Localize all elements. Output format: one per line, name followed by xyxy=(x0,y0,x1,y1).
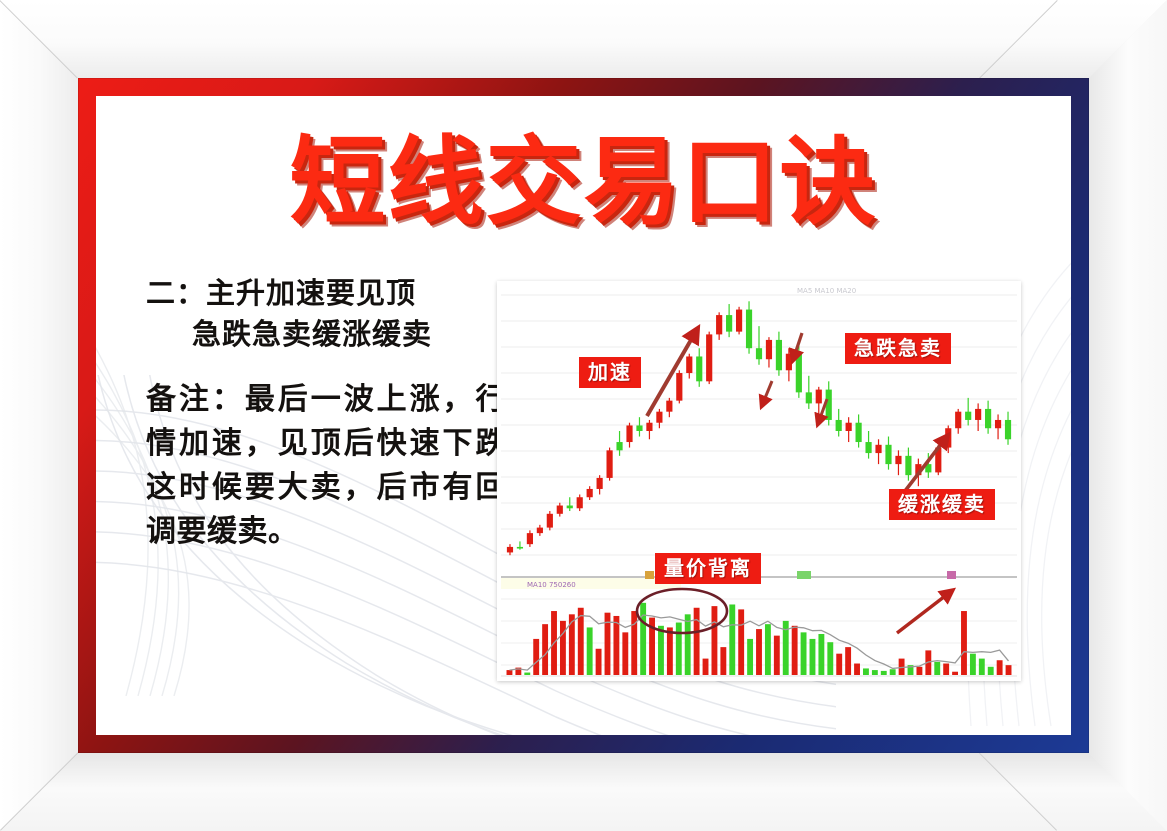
candle-body xyxy=(865,442,871,453)
candle-body xyxy=(577,497,583,508)
chart-label-rapid-sell: 急跌急卖 xyxy=(845,333,951,364)
volume-bar xyxy=(658,626,664,675)
candle-body xyxy=(895,456,901,464)
candle-body xyxy=(816,390,822,404)
candle-body xyxy=(985,409,991,428)
candle-body xyxy=(995,420,1001,428)
volume-bar xyxy=(729,604,735,675)
candle-body xyxy=(597,478,603,489)
volume-bar xyxy=(818,634,824,675)
candle-body xyxy=(756,348,762,359)
candle-body xyxy=(846,423,852,431)
chart-header-text: MA5 MA10 MA20 xyxy=(797,287,856,295)
volume-bar xyxy=(694,608,700,675)
candle-body xyxy=(607,450,613,478)
volume-bar xyxy=(970,654,976,675)
volume-bar xyxy=(854,664,860,675)
candle-body xyxy=(945,428,951,447)
volume-bar xyxy=(587,627,593,675)
volume-bar xyxy=(711,606,717,675)
volume-bar xyxy=(863,668,869,675)
volume-bar xyxy=(676,623,682,675)
frame-bevel-left xyxy=(0,0,78,831)
volume-bar xyxy=(943,664,949,675)
volume-bar xyxy=(845,647,851,675)
frame-bevel-right xyxy=(1089,0,1167,831)
verse-line-2: 急跌急卖缓涨缓卖 xyxy=(146,315,506,356)
candle-body xyxy=(716,315,722,334)
volume-bar xyxy=(756,629,762,675)
volume-bar xyxy=(703,659,709,675)
volume-bar xyxy=(560,621,566,675)
candle-body xyxy=(696,356,702,381)
volume-bar xyxy=(685,614,691,675)
candle-body xyxy=(955,412,961,429)
candle-body xyxy=(786,354,792,371)
volume-bar xyxy=(720,647,726,675)
slide-stage: 短线交易口诀 二：主升加速要见顶 急跌急卖缓涨缓卖 备注：最后一波上涨，行情加速… xyxy=(0,0,1167,831)
candle-body xyxy=(726,315,732,332)
volume-bar xyxy=(613,616,619,675)
volume-bar xyxy=(622,632,628,675)
chart-label-slow-sell: 缓涨缓卖 xyxy=(889,489,995,520)
volume-bar xyxy=(542,624,548,675)
volume-bar xyxy=(667,627,673,675)
volume-bar xyxy=(979,659,985,675)
stock-chart-card: MA5 MA10 MA20 MA10 750260 xyxy=(497,281,1021,681)
volume-bar xyxy=(801,632,807,675)
candle-body xyxy=(557,506,563,514)
candle-body xyxy=(626,425,632,442)
chart-label-volume-divergence: 量价背离 xyxy=(655,553,761,584)
volume-bar xyxy=(738,609,744,675)
volume-bar xyxy=(596,649,602,675)
candle-body xyxy=(517,547,523,549)
volume-bar xyxy=(747,639,753,675)
candle-body xyxy=(547,514,553,528)
candle-body xyxy=(836,420,842,431)
text-column: 二：主升加速要见顶 急跌急卖缓涨缓卖 备注：最后一波上涨，行情加速，见顶后快速下… xyxy=(146,274,506,554)
candle-body xyxy=(776,340,782,370)
candle-body xyxy=(676,373,682,401)
slide-canvas: 短线交易口诀 二：主升加速要见顶 急跌急卖缓涨缓卖 备注：最后一波上涨，行情加速… xyxy=(96,96,1071,735)
volume-bar xyxy=(765,624,771,675)
volume-bar xyxy=(916,667,922,675)
volume-bar xyxy=(872,670,878,675)
verse-block: 二：主升加速要见顶 急跌急卖缓涨缓卖 xyxy=(146,274,506,356)
volume-bar xyxy=(997,660,1003,675)
candle-body xyxy=(537,528,543,534)
candle-body xyxy=(616,442,622,450)
candle-body xyxy=(587,489,593,497)
candle-body xyxy=(646,423,652,431)
candle-body xyxy=(706,334,712,381)
candle-body xyxy=(975,409,981,420)
volume-bar xyxy=(569,614,575,675)
candle-body xyxy=(856,423,862,442)
volume-bar xyxy=(631,611,637,675)
candle-body xyxy=(567,506,573,509)
volume-indicator-text: MA10 750260 xyxy=(527,581,576,589)
volume-bar xyxy=(952,672,958,675)
volume-bar xyxy=(836,654,842,675)
divider-marker-3 xyxy=(947,571,956,579)
volume-bar xyxy=(961,611,967,675)
volume-bar xyxy=(792,626,798,675)
volume-bar xyxy=(524,673,530,675)
volume-bar xyxy=(810,639,816,675)
candle-body xyxy=(766,340,772,359)
volume-bar xyxy=(774,636,780,675)
candle-body xyxy=(656,412,662,423)
page-title: 短线交易口诀 xyxy=(96,134,1071,230)
volume-bar xyxy=(640,603,646,675)
volume-bar xyxy=(988,667,994,675)
note-text: 备注：最后一波上涨，行情加速，见顶后快速下跌这时候要大卖，后市有回调要缓卖。 xyxy=(146,378,506,553)
volume-bar xyxy=(507,670,513,675)
candle-body xyxy=(736,310,742,332)
chart-label-acceleration: 加速 xyxy=(579,357,641,388)
volume-bar xyxy=(890,669,896,675)
candle-body xyxy=(905,456,911,475)
candle-body xyxy=(1005,420,1011,439)
candle-body xyxy=(527,533,533,544)
candle-body xyxy=(507,547,513,553)
candle-body xyxy=(806,392,812,403)
volume-bar xyxy=(827,642,833,675)
divider-marker-1 xyxy=(645,571,654,579)
volume-bar xyxy=(533,639,539,675)
candle-body xyxy=(796,354,802,393)
volume-bar xyxy=(881,671,887,675)
candle-body xyxy=(746,310,752,349)
candle-body xyxy=(826,390,832,420)
candle-body xyxy=(875,445,881,453)
volume-bar xyxy=(934,662,940,675)
volume-bar xyxy=(1006,665,1012,675)
candle-body xyxy=(965,412,971,420)
candle-body xyxy=(666,401,672,412)
candle-body xyxy=(686,356,692,373)
candle-body xyxy=(636,425,642,431)
divider-marker-2 xyxy=(797,571,811,579)
verse-line-1: 二：主升加速要见顶 xyxy=(146,278,416,310)
candle-body xyxy=(885,445,891,464)
